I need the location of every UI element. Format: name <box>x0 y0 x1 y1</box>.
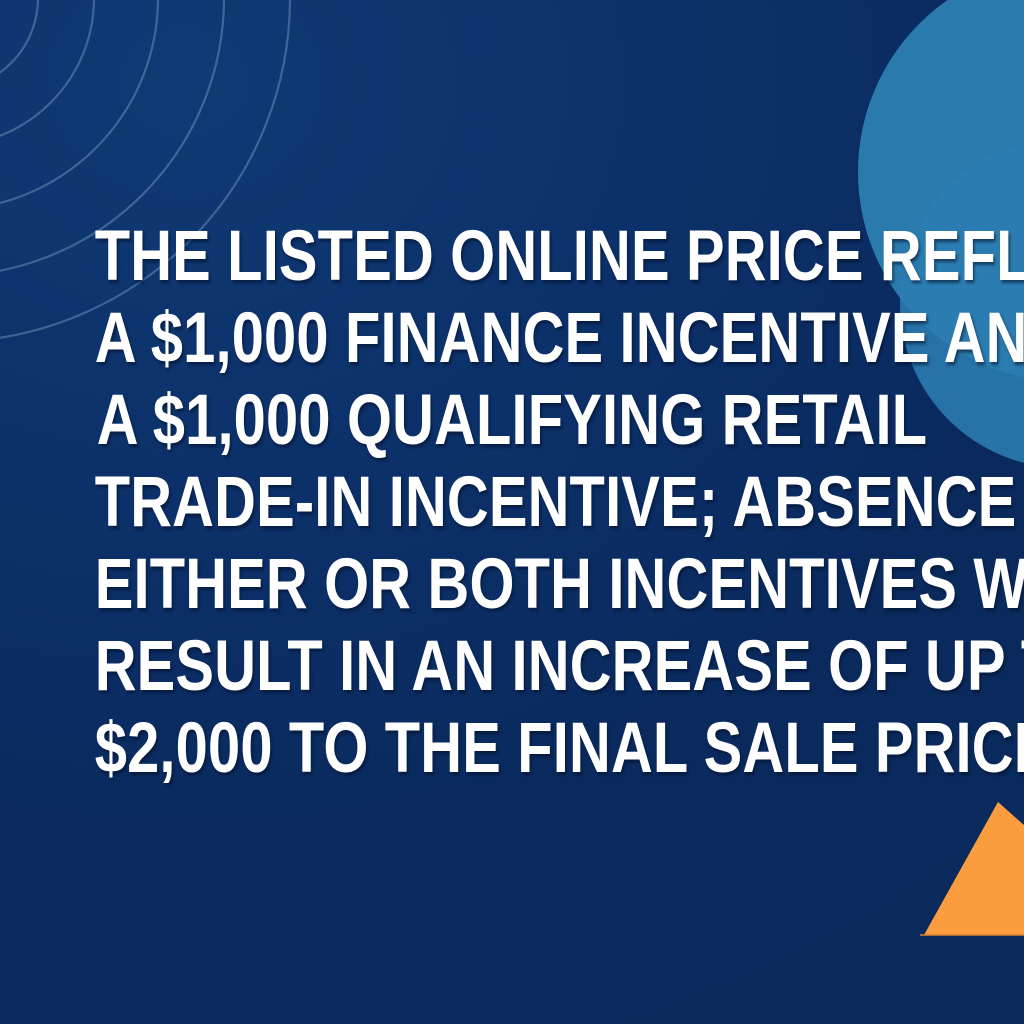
headline-block: THE LISTED ONLINE PRICE REFLECTS A $1,00… <box>0 216 1024 790</box>
headline-line-7: $2,000 TO THE FINAL SALE PRICE. <box>95 708 930 790</box>
headline-line-2: A $1,000 FINANCE INCENTIVE AND <box>95 298 930 380</box>
headline-line-1: THE LISTED ONLINE PRICE REFLECTS <box>95 216 930 298</box>
headline-line-4: TRADE-IN INCENTIVE; ABSENCE OF <box>95 462 930 544</box>
orange-triangle <box>924 802 1024 935</box>
headline-line-5: EITHER OR BOTH INCENTIVES WILL <box>95 544 930 626</box>
triangle-baseline-rule <box>920 934 1024 936</box>
headline-line-3: A $1,000 QUALIFYING RETAIL <box>95 380 930 462</box>
headline-line-6: RESULT IN AN INCREASE OF UP TO <box>95 626 930 708</box>
promo-graphic-canvas: THE LISTED ONLINE PRICE REFLECTS A $1,00… <box>0 0 1024 1024</box>
